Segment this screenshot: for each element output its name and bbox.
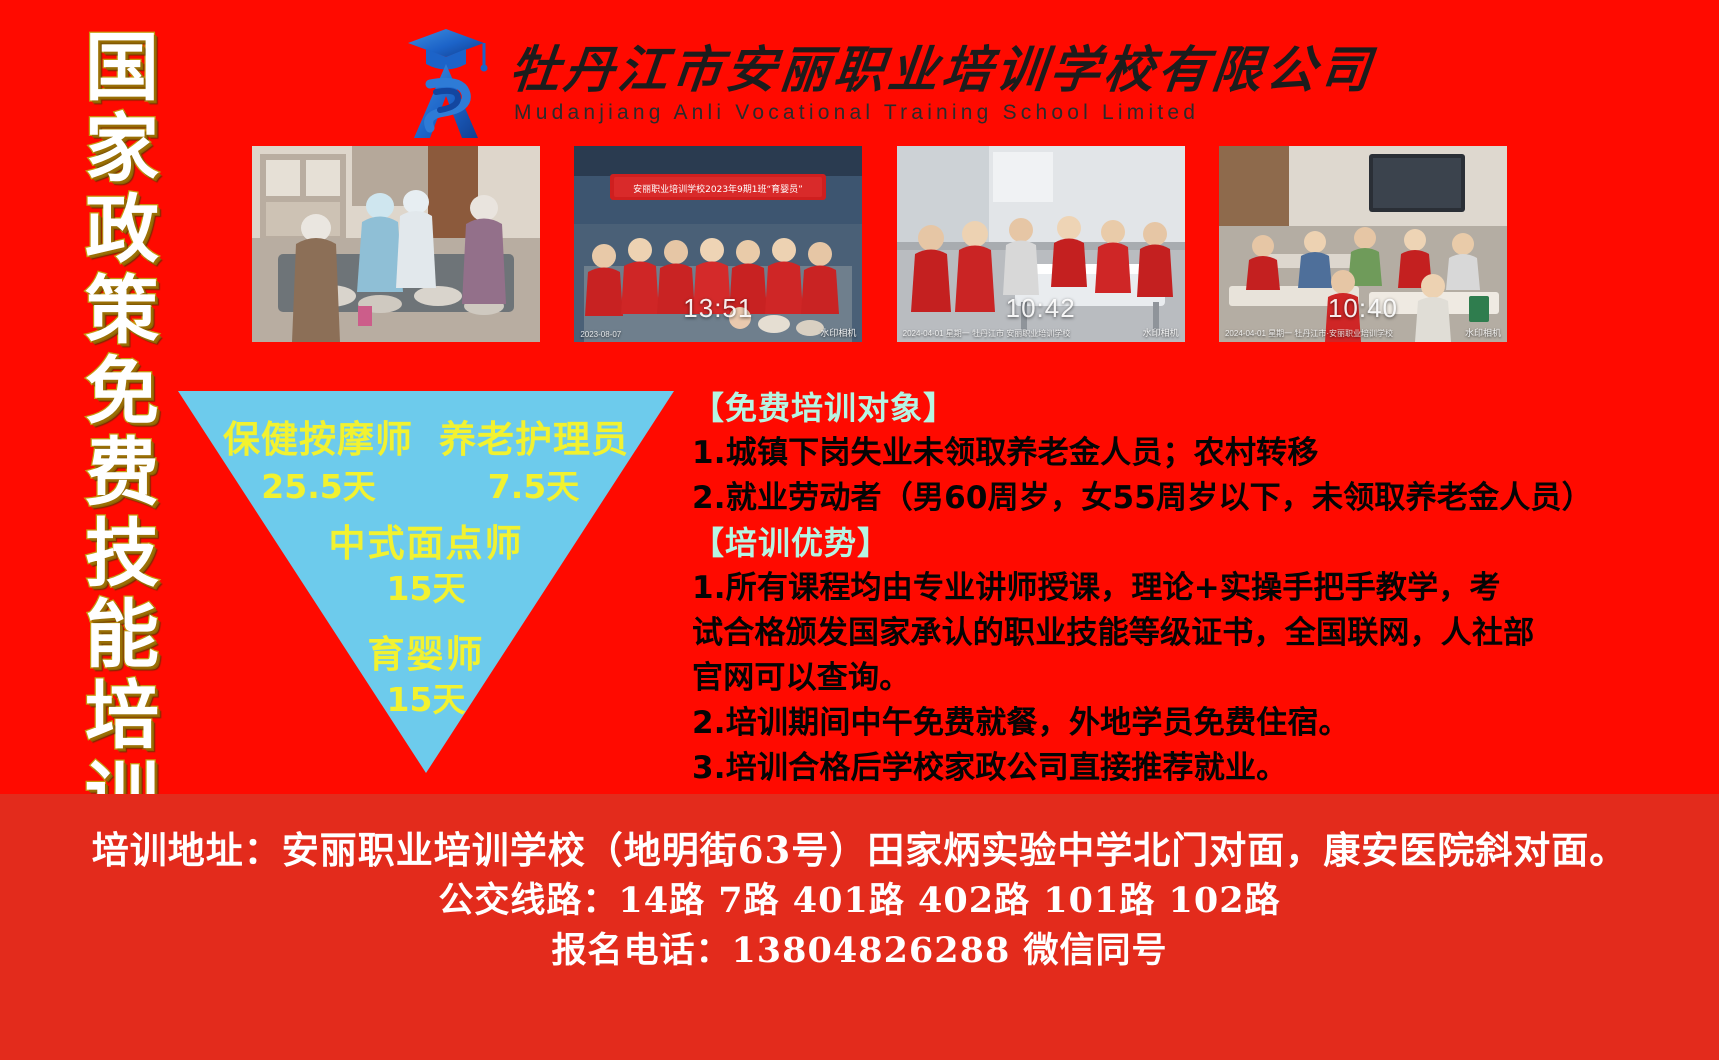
poster-footer: 培训地址：安丽职业培训学校（地明街63号）田家炳实验中学北门对面，康安医院斜对面… (0, 794, 1719, 1060)
photo-watermark-brand: 水印相机 (1465, 326, 1501, 339)
vertical-poster-title: 国 家 政 策 免 费 技 能 培 训 (66, 28, 178, 838)
photo-nursing-practice: 10:42 2024-04-01 星期一 牡丹江市 安丽职业培训学校 水印相机 (897, 146, 1185, 342)
vertical-title-char: 培 (85, 676, 159, 757)
course-titles-row-1: 保健按摩师养老护理员 (178, 418, 674, 462)
photo-strip: 安丽职业培训学校2023年9期1班“育婴员” (252, 146, 1507, 342)
photo-watermark-date: 2023-08-07 (580, 330, 621, 339)
photo-watermark-date: 2024-04-01 星期一 牡丹江市 安丽职业培训学校 (903, 328, 1071, 339)
course-title-1: 保健按摩师 (223, 418, 413, 461)
photo-watermark-time: 13:51 (683, 293, 753, 324)
training-advantage-line: 2.培训期间中午免费就餐，外地学员免费住宿。 (692, 701, 1692, 746)
course-triangle: 保健按摩师养老护理员 25.5天7.5天 中式面点师 15天 育婴师 15天 (178, 391, 674, 773)
training-advantage-line: 官网可以查询。 (692, 656, 1692, 701)
info-column: 【免费培训对象】 1.城镇下岗失业未领取养老金人员；农村转移 2.就业劳动者（男… (692, 386, 1692, 791)
photo-watermark-brand: 水印相机 (820, 326, 856, 339)
vertical-title-char: 策 (85, 271, 159, 352)
vertical-title-char: 费 (85, 433, 159, 514)
photo-watermark-time: 10:40 (1328, 293, 1398, 324)
course-days-2: 7.5天 (426, 467, 641, 507)
training-advantage-heading: 【培训优势】 (692, 521, 1692, 566)
photo-image (252, 146, 540, 342)
photo-classroom-lecture: 10:40 2024-04-01 星期一 牡丹江市·安丽职业培训学校 水印相机 (1219, 146, 1507, 342)
course-days-1: 25.5天 (211, 467, 426, 507)
school-name-chinese: 牡丹江市安丽职业培训学校有限公司 (507, 42, 1377, 98)
photo-watermark-brand: 水印相机 (1143, 326, 1179, 339)
training-advantage-line: 1.所有课程均由专业讲师授课，理论+实操手把手教学，考 (692, 566, 1692, 611)
svg-text:安丽职业培训学校2023年9期1班“育婴员”: 安丽职业培训学校2023年9期1班“育婴员” (633, 183, 803, 195)
header-text-block: 牡丹江市安丽职业培训学校有限公司 Mudanjiang Anli Vocatio… (510, 38, 1374, 126)
vertical-title-char: 家 (85, 109, 159, 190)
course-title-4: 育婴师 (178, 633, 674, 677)
photo-watermark-date: 2024-04-01 星期一 牡丹江市·安丽职业培训学校 (1225, 328, 1393, 339)
vertical-title-char: 免 (85, 352, 159, 433)
vertical-title-char: 国 (85, 28, 159, 109)
footer-bus-routes: 公交线路：14路 7路 401路 402路 101路 102路 (438, 876, 1280, 926)
vertical-title-char: 能 (85, 595, 159, 676)
course-title-2: 养老护理员 (439, 418, 629, 461)
free-training-target-line: 2.就业劳动者（男60周岁，女55周岁以下，未领取养老金人员） (692, 476, 1692, 521)
photo-group-banner: 安丽职业培训学校2023年9期1班“育婴员” (574, 146, 862, 342)
course-title-3: 中式面点师 (178, 522, 674, 566)
course-days-4: 15天 (178, 680, 674, 720)
poster-header: 牡丹江市安丽职业培训学校有限公司 Mudanjiang Anli Vocatio… (400, 22, 1340, 142)
free-training-target-line: 1.城镇下岗失业未领取养老金人员；农村转移 (692, 431, 1692, 476)
course-days-3: 15天 (178, 569, 674, 609)
footer-phone: 报名电话：13804826288 微信同号 (551, 926, 1167, 976)
photo-pastry-class (252, 146, 540, 342)
graduation-cap-logo-icon (400, 26, 496, 138)
vertical-title-char: 政 (85, 190, 159, 271)
school-name-english: Mudanjiang Anli Vocational Training Scho… (514, 100, 1374, 126)
photo-watermark-time: 10:42 (1006, 293, 1076, 324)
training-advantage-line: 试合格颁发国家承认的职业技能等级证书，全国联网，人社部 (692, 611, 1692, 656)
vertical-title-char: 技 (85, 514, 159, 595)
footer-address: 培训地址：安丽职业培训学校（地明街63号）田家炳实验中学北门对面，康安医院斜对面… (92, 824, 1628, 876)
free-training-target-heading: 【免费培训对象】 (692, 386, 1692, 431)
course-days-row-1: 25.5天7.5天 (178, 467, 674, 507)
training-advantage-line: 3.培训合格后学校家政公司直接推荐就业。 (692, 746, 1692, 791)
poster-root: 国 家 政 策 免 费 技 能 培 训 (0, 0, 1719, 1060)
